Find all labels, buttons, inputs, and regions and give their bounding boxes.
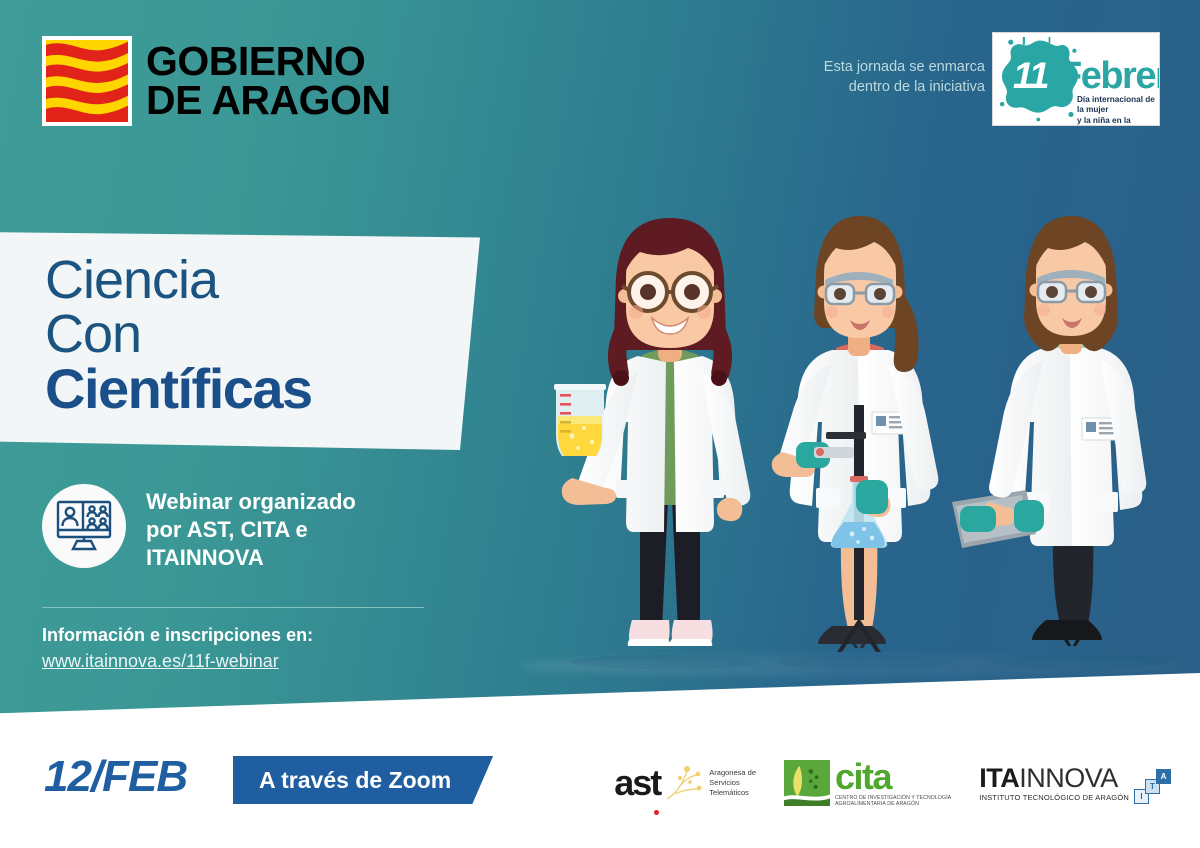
initiative-line1: Esta jornada se enmarca [824, 58, 985, 78]
ita-boxes-icon: I T A [1134, 768, 1170, 802]
cita-subtitle: CENTRO DE INVESTIGACIÓN Y TECNOLOGÍA AGR… [835, 795, 951, 809]
gov-logo-line2: DE ARAGON [146, 81, 391, 120]
figure-beaker [554, 218, 750, 646]
ast-sub-line1: Aragonesa de [709, 768, 756, 778]
feb-sub-line2: y la niña en la ciencia [1077, 116, 1159, 127]
itainnova-logo: ITAINNOVA INSTITUTO TECNOLÓGICO DE ARAGÓ… [979, 765, 1170, 802]
event-date: 12/FEB [44, 752, 187, 802]
ast-wordmark: ast [614, 765, 660, 801]
video-conference-icon [42, 484, 126, 568]
beaker-icon [554, 384, 606, 456]
ita-wordmark-bold: ITA [979, 763, 1019, 793]
feb-day: 11 [1013, 55, 1047, 97]
title-line2: Con [45, 307, 312, 361]
gov-logo-line1: GOBIERNO [146, 42, 391, 81]
sponsor-logos: ast Aragonesa de Servicios Telemáticos [614, 759, 1170, 809]
cita-sub-line2: AGROALIMENTARIA DE ARAGÓN [835, 801, 951, 808]
cita-leaf-icon [784, 760, 830, 806]
initiative-text: Esta jornada se enmarca dentro de la ini… [824, 58, 985, 97]
teal-glove [856, 480, 888, 514]
divider [42, 607, 424, 608]
gobierno-aragon-logo: GOBIERNO DE ARAGON [42, 36, 391, 126]
cita-logo: cita CENTRO DE INVESTIGACIÓN Y TECNOLOGÍ… [784, 759, 951, 809]
webinar-line1: Webinar organizado [146, 488, 356, 516]
11febrero-logo: 11 Febrero Día internacional de la mujer… [992, 32, 1160, 126]
feb-month: Febrero [1059, 55, 1160, 98]
webinar-line3: ITAINNOVA [146, 544, 356, 572]
poster-canvas: GOBIERNO DE ARAGON Esta jornada se enmar… [0, 0, 1200, 848]
platform-banner: A través de Zoom [233, 756, 493, 804]
teal-glove [1014, 500, 1044, 532]
ast-logo: ast Aragonesa de Servicios Telemáticos [614, 761, 756, 805]
ita-wordmark-light: INNOVA [1019, 763, 1118, 793]
ita-subtitle: INSTITUTO TECNOLÓGICO DE ARAGÓN [979, 794, 1129, 802]
cita-wordmark: cita [835, 759, 951, 795]
teal-glove [960, 506, 996, 532]
page-title: Ciencia Con Científicas [45, 253, 312, 417]
figure-flask [772, 216, 939, 652]
webinar-line2: por AST, CITA e [146, 516, 356, 544]
title-line3: Científicas [45, 361, 312, 417]
ast-sub-line2: Servicios [709, 778, 756, 788]
webinar-block: Webinar organizado por AST, CITA e ITAIN… [42, 484, 356, 572]
info-label: Información e inscripciones en: [42, 625, 313, 645]
aragon-flag-icon [42, 36, 132, 126]
title-line1: Ciencia [45, 253, 312, 307]
webinar-text: Webinar organizado por AST, CITA e ITAIN… [146, 484, 356, 572]
ast-subtitle: Aragonesa de Servicios Telemáticos [709, 768, 756, 798]
feb-subtitle: Día internacional de la mujer y la niña … [1077, 95, 1159, 126]
registration-url[interactable]: www.itainnova.es/11f-webinar [42, 648, 313, 674]
feb-sub-line1: Día internacional de la mujer [1077, 95, 1159, 116]
floor-shadow [520, 655, 1200, 677]
ast-branch-icon [663, 761, 705, 805]
ita-box-a: A [1156, 769, 1171, 784]
figure-clipboard [952, 216, 1146, 646]
ast-sub-line3: Telemáticos [709, 788, 756, 798]
gobierno-aragon-wordmark: GOBIERNO DE ARAGON [146, 42, 391, 121]
info-block: Información e inscripciones en: www.itai… [42, 622, 313, 674]
scientists-illustration [520, 150, 1200, 680]
initiative-line2: dentro de la iniciativa [824, 78, 985, 98]
